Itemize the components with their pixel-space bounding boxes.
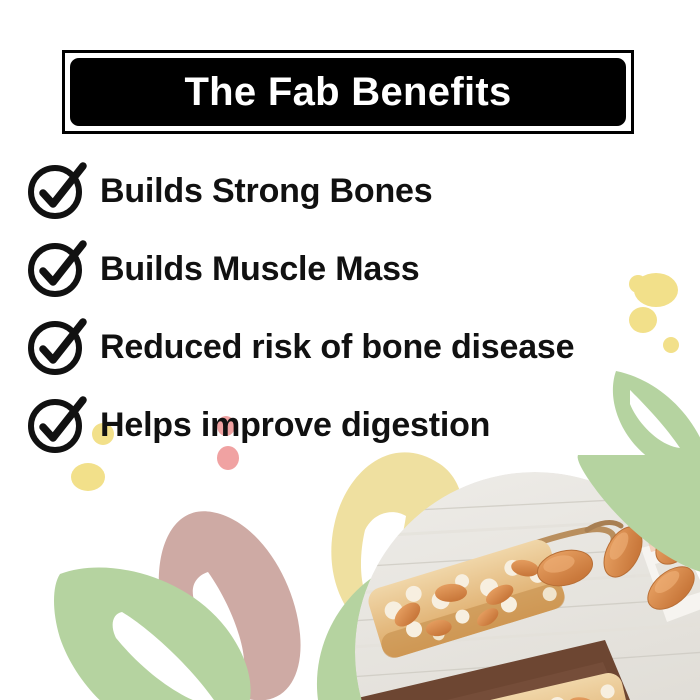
- leaf-green-bottom-left: [54, 568, 251, 700]
- check-circle-icon: [26, 396, 90, 454]
- leaf-rose-center: [159, 511, 301, 700]
- list-item-label: Builds Muscle Mass: [100, 252, 420, 286]
- check-circle-icon: [26, 162, 90, 220]
- check-circle-icon: [26, 240, 90, 298]
- benefits-poster: The Fab Benefits Builds Strong Bones Bui…: [0, 0, 700, 700]
- list-item-label: Builds Strong Bones: [100, 174, 432, 208]
- list-item: Builds Muscle Mass: [26, 240, 676, 298]
- check-circle-icon: [26, 318, 90, 376]
- page-title: The Fab Benefits: [184, 72, 511, 112]
- granola-bars-with-almonds-photo: [355, 472, 700, 700]
- list-item-label: Helps improve digestion: [100, 408, 490, 442]
- benefits-list: Builds Strong Bones Builds Muscle Mass R…: [26, 162, 676, 474]
- list-item: Builds Strong Bones: [26, 162, 676, 220]
- list-item-label: Reduced risk of bone disease: [100, 330, 574, 364]
- list-item: Helps improve digestion: [26, 396, 676, 454]
- list-item: Reduced risk of bone disease: [26, 318, 676, 376]
- photo-artwork: [355, 472, 700, 700]
- title-banner: The Fab Benefits: [62, 50, 634, 134]
- title-banner-inner: The Fab Benefits: [70, 58, 626, 126]
